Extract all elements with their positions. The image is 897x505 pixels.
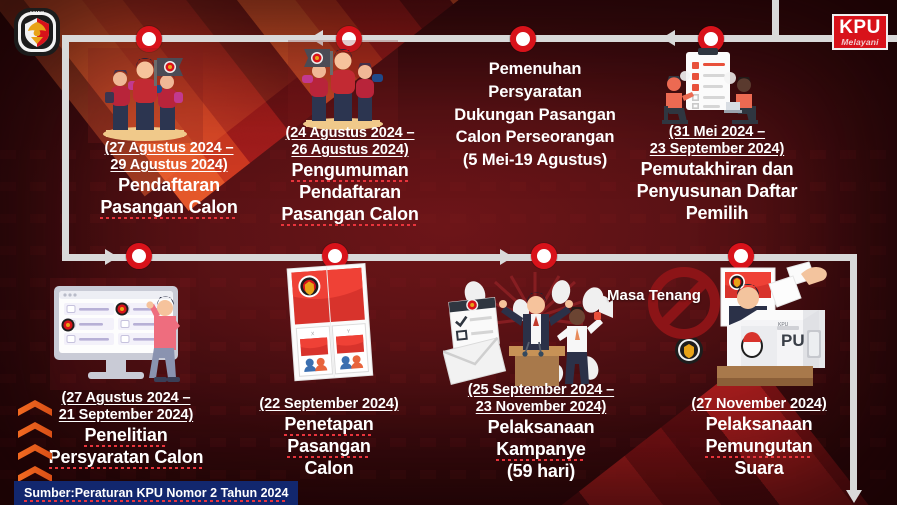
step-title: Pelaksanaan Pemungutan Suara [660,414,858,479]
timeline-arrow-exit [846,490,862,503]
step-pendaftaran-pasangan-calon[interactable]: (27 Agustus 2024 –29 Agustus 2024) Penda… [58,140,280,219]
source-banner: Sumber:Peraturan KPU Nomor 2 Tahun 2024 [14,481,298,505]
step-pemenuhan-persyaratan-dukungan[interactable]: Pemenuhan Persyaratan Dukungan Pasangan … [440,58,630,172]
step-pengumuman-pendaftaran-pasangan-calon[interactable]: (24 Agustus 2024 –26 Agustus 2024) Pengu… [250,125,450,226]
chevron-up-icon [18,400,52,416]
kpu-melayani-subtitle: Melayani [841,38,879,47]
timeline-arrow-bottom-left [105,249,118,265]
svg-text:KOMISI: KOMISI [30,10,45,15]
step-title: Pelaksanaan Kampanye (59 hari) [432,417,650,482]
timeline-node-pemenuhan[interactable] [510,26,536,52]
svg-text:KPU: KPU [778,322,789,328]
kpu-melayani-logo: KPU Melayani [832,14,888,50]
step-dates: (24 Agustus 2024 –26 Agustus 2024) [250,125,450,159]
step-pelaksanaan-pemungutan-suara[interactable]: (27 November 2024) Pelaksanaan Pemunguta… [660,396,858,479]
timeline-arrow-bottom-mid [500,249,513,265]
step-dates: (27 Agustus 2024 –29 Agustus 2024) [58,140,280,174]
three-people-with-flag-icon [288,40,398,132]
step-title: Pemutakhiran dan Penyusunan Daftar Pemil… [608,159,826,224]
step-plain-text: Pemenuhan Persyaratan Dukungan Pasangan … [440,58,630,172]
step-pemutakhiran-penyusunan-daftar-pemilih[interactable]: (31 Mei 2024 –23 September 2024) Pemutak… [608,124,826,225]
svg-text:PU: PU [781,331,805,350]
chevron-up-icon [18,466,52,482]
ballot-paper-icon: X Y [285,262,377,384]
source-text: Sumber:Peraturan KPU Nomor 2 Tahun 2024 [24,486,288,502]
kpu-seal-logo: KOMISI [10,6,64,58]
timeline-entry-vertical [772,0,779,39]
step-title: Pengumuman Pendaftaran Pasangan Calon [250,160,450,225]
masa-tenang-label: Masa Tenang [607,287,701,304]
monitor-verification-icon [50,278,190,390]
kpu-melayani-title: KPU [839,18,881,37]
three-people-with-flag-icon [88,48,203,143]
timeline-arrow-top-mid [662,30,675,46]
step-title: Pendaftaran Pasangan Calon [58,175,280,219]
step-dates: (25 September 2024 –23 November 2024) [432,382,650,416]
step-pelaksanaan-kampanye[interactable]: (25 September 2024 –23 November 2024) Pe… [432,382,650,483]
step-title: Penetapan Pasangan Calon [238,414,420,479]
step-penetapan-pasangan-calon[interactable]: (22 September 2024) Penetapan Pasangan C… [238,396,420,479]
infographic-canvas: KOMISI KPU Melayani [0,0,897,505]
clipboard-checklist-icon [648,48,766,136]
timeline-node-penelitian[interactable] [126,243,152,269]
chevron-arrows-decoration [18,400,52,488]
timeline-node-kampanye[interactable] [531,243,557,269]
chevron-up-icon [18,422,52,438]
campaign-podium-icon [443,272,623,390]
step-dates: (27 November 2024) [660,396,858,413]
chevron-up-icon [18,444,52,460]
step-dates: (22 September 2024) [238,396,420,413]
no-entry-icon [648,267,720,344]
step-dates: (31 Mei 2024 –23 September 2024) [608,124,826,158]
